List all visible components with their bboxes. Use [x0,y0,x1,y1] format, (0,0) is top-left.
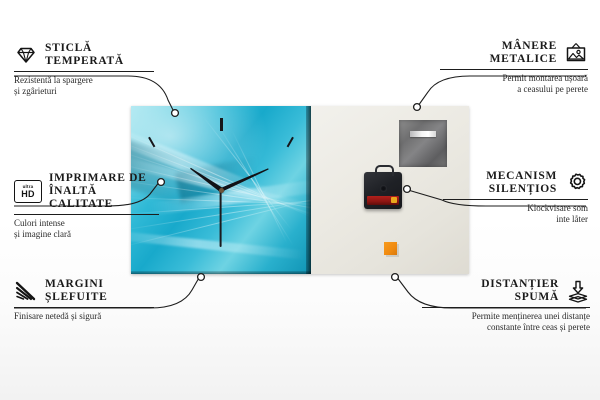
feature-title: MARGINI ȘLEFUITE [45,278,107,304]
feature-rule [422,307,590,308]
metal-hanger-plate [399,120,447,167]
battery-plus-terminal [391,197,397,203]
feature-title: MECANISM SILENȚIOS [486,170,557,196]
feature-tempered-glass: STICLĂ TEMPERATĂ Rezistentă la spargere … [14,42,154,97]
glass-edge-bottom [131,271,311,274]
polished-edges-icon [14,279,38,303]
feature-subtitle: Klockvisare som inte låter [443,203,588,225]
hanging-picture-frame-icon [564,41,588,65]
feature-subtitle: Permite menținerea unei distanțe constan… [422,311,590,333]
feature-foam-spacer: DISTANȚIER SPUMĂ Permite menținerea unei… [422,278,590,333]
connector-dot-spacer [392,274,399,281]
feature-rule [14,307,154,308]
clock-minute-hand [220,167,269,192]
tick-11 [148,137,155,148]
feature-metal-handles: MÂNERE METALICE Permit montarea ușoară a… [440,40,588,95]
feature-subtitle: Finisare netedă și sigură [14,311,154,322]
feature-title: IMPRIMARE DE ÎNALTĂ CALITATE [49,172,159,211]
movement-hanger-loop [375,165,394,176]
clock-hand-cap [219,188,224,193]
feature-polished-edges: MARGINI ȘLEFUITE Finisare netedă și sigu… [14,278,154,322]
feature-title: MÂNERE METALICE [490,40,557,66]
movement-shaft [380,185,387,192]
battery [367,196,399,205]
gear-icon [564,171,588,195]
diamond-icon [14,43,38,67]
feature-subtitle: Culori intense și imagine clară [14,218,159,240]
quartz-movement [364,172,402,209]
hd-badge-main-label: HD [21,190,35,199]
feature-silent-movement: MECANISM SILENȚIOS Klockvisare som inte … [443,170,588,225]
feature-rule [14,71,154,72]
feature-rule [443,199,588,200]
clock-second-hand [220,190,222,247]
feature-rule [14,214,159,215]
tick-1 [287,137,294,148]
feature-title: STICLĂ TEMPERATĂ [45,42,124,68]
connector-dot-edges [198,274,205,281]
feature-subtitle: Rezistentă la spargere și zgârieturi [14,75,154,97]
feature-rule [440,69,588,70]
tick-12 [220,118,223,131]
ultra-hd-badge-icon: ultra HD [14,180,42,203]
hanger-slot [410,131,436,137]
foam-spacer [384,242,397,255]
clock-hour-hand [188,166,222,192]
foam-spacer-arrow-icon [566,279,590,303]
feature-high-quality-print: ultra HD IMPRIMARE DE ÎNALTĂ CALITATE Cu… [14,172,159,240]
feature-subtitle: Permit montarea ușoară a ceasului pe per… [440,73,588,95]
feature-title: DISTANȚIER SPUMĂ [481,278,559,304]
product-infographic: STICLĂ TEMPERATĂ Rezistentă la spargere … [0,0,600,400]
